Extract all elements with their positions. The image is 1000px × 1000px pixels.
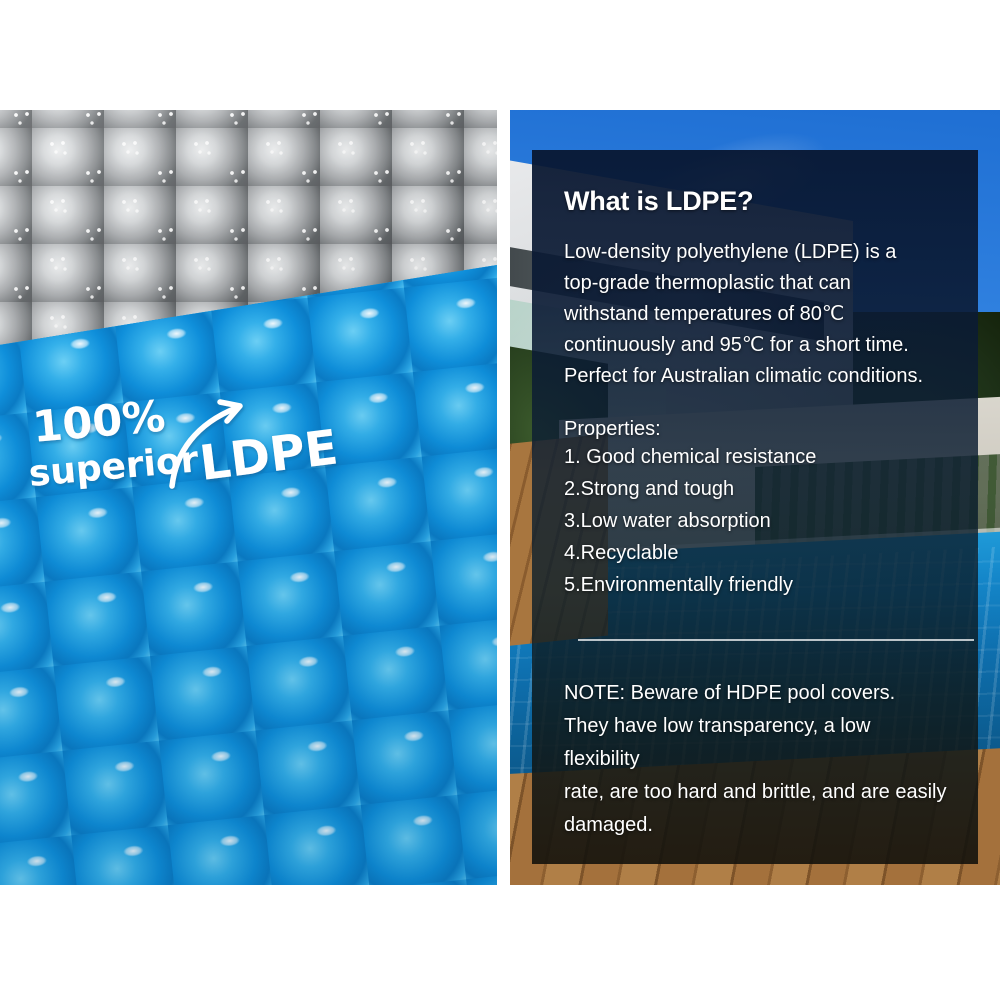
- note-line-3: rate, are too hard and brittle, and are …: [564, 776, 948, 809]
- panel-title: What is LDPE?: [564, 186, 948, 217]
- intro-line-1: Low-density polyethylene (LDPE) is a: [564, 237, 948, 268]
- note-line-1: NOTE: Beware of HDPE pool covers.: [564, 677, 948, 710]
- villa-pool-photo: What is LDPE? Low-density polyethylene (…: [510, 110, 1000, 885]
- ldpe-info-panel: What is LDPE? Low-density polyethylene (…: [532, 150, 978, 864]
- intro-line-2: top-grade thermoplastic that can: [564, 268, 948, 299]
- list-item: 2.Strong and tough: [564, 473, 948, 505]
- intro-line-5: Perfect for Australian climatic conditio…: [564, 361, 948, 392]
- pool-cover-material-photo: 100% superior LDPE: [0, 110, 497, 885]
- list-item: 5.Environmentally friendly: [564, 569, 948, 601]
- list-item: 1. Good chemical resistance: [564, 441, 948, 473]
- properties-list: 1. Good chemical resistance 2.Strong and…: [564, 441, 948, 601]
- note-paragraph: NOTE: Beware of HDPE pool covers. They h…: [564, 677, 948, 842]
- intro-line-3: withstand temperatures of 80℃: [564, 299, 948, 330]
- intro-paragraph: Low-density polyethylene (LDPE) is a top…: [564, 237, 948, 392]
- section-divider: [578, 639, 974, 641]
- note-line-2: They have low transparency, a low flexib…: [564, 710, 948, 776]
- list-item: 3.Low water absorption: [564, 505, 948, 537]
- properties-heading: Properties:: [564, 418, 948, 441]
- intro-line-4: continuously and 95℃ for a short time.: [564, 330, 948, 361]
- note-line-4: damaged.: [564, 809, 948, 842]
- infographic-canvas: 100% superior LDPE What is LDPE? Low-den…: [0, 0, 1000, 1000]
- list-item: 4.Recyclable: [564, 537, 948, 569]
